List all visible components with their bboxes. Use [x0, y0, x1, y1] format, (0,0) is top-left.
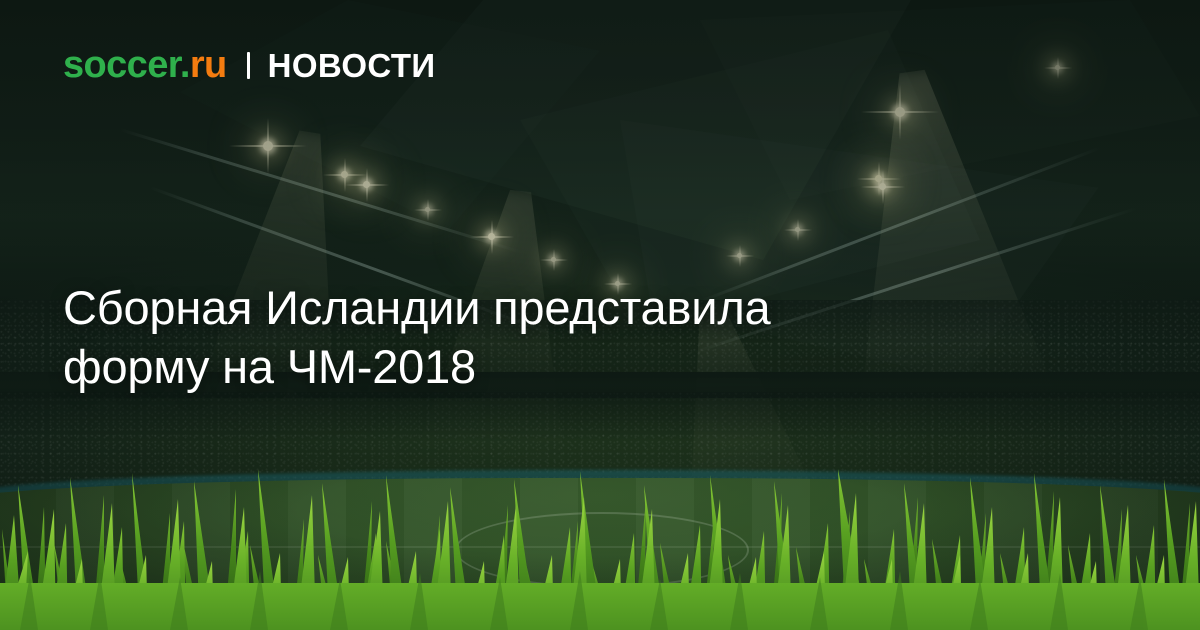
article-headline: Сборная Исландии представила форму на ЧМ… — [63, 279, 1043, 396]
site-logo[interactable]: soccer.ru — [63, 46, 227, 84]
logo-dot: . — [180, 44, 190, 86]
logo-ru-text: ru — [190, 44, 227, 86]
site-brand[interactable]: soccer.ru НОВОСТИ — [63, 46, 436, 84]
logo-soccer-text: soccer — [63, 44, 180, 86]
brand-separator-icon — [247, 52, 250, 79]
grass-foreground — [0, 455, 1200, 630]
section-label[interactable]: НОВОСТИ — [268, 49, 436, 82]
news-share-card: soccer.ru НОВОСТИ Сборная Исландии предс… — [0, 0, 1200, 630]
